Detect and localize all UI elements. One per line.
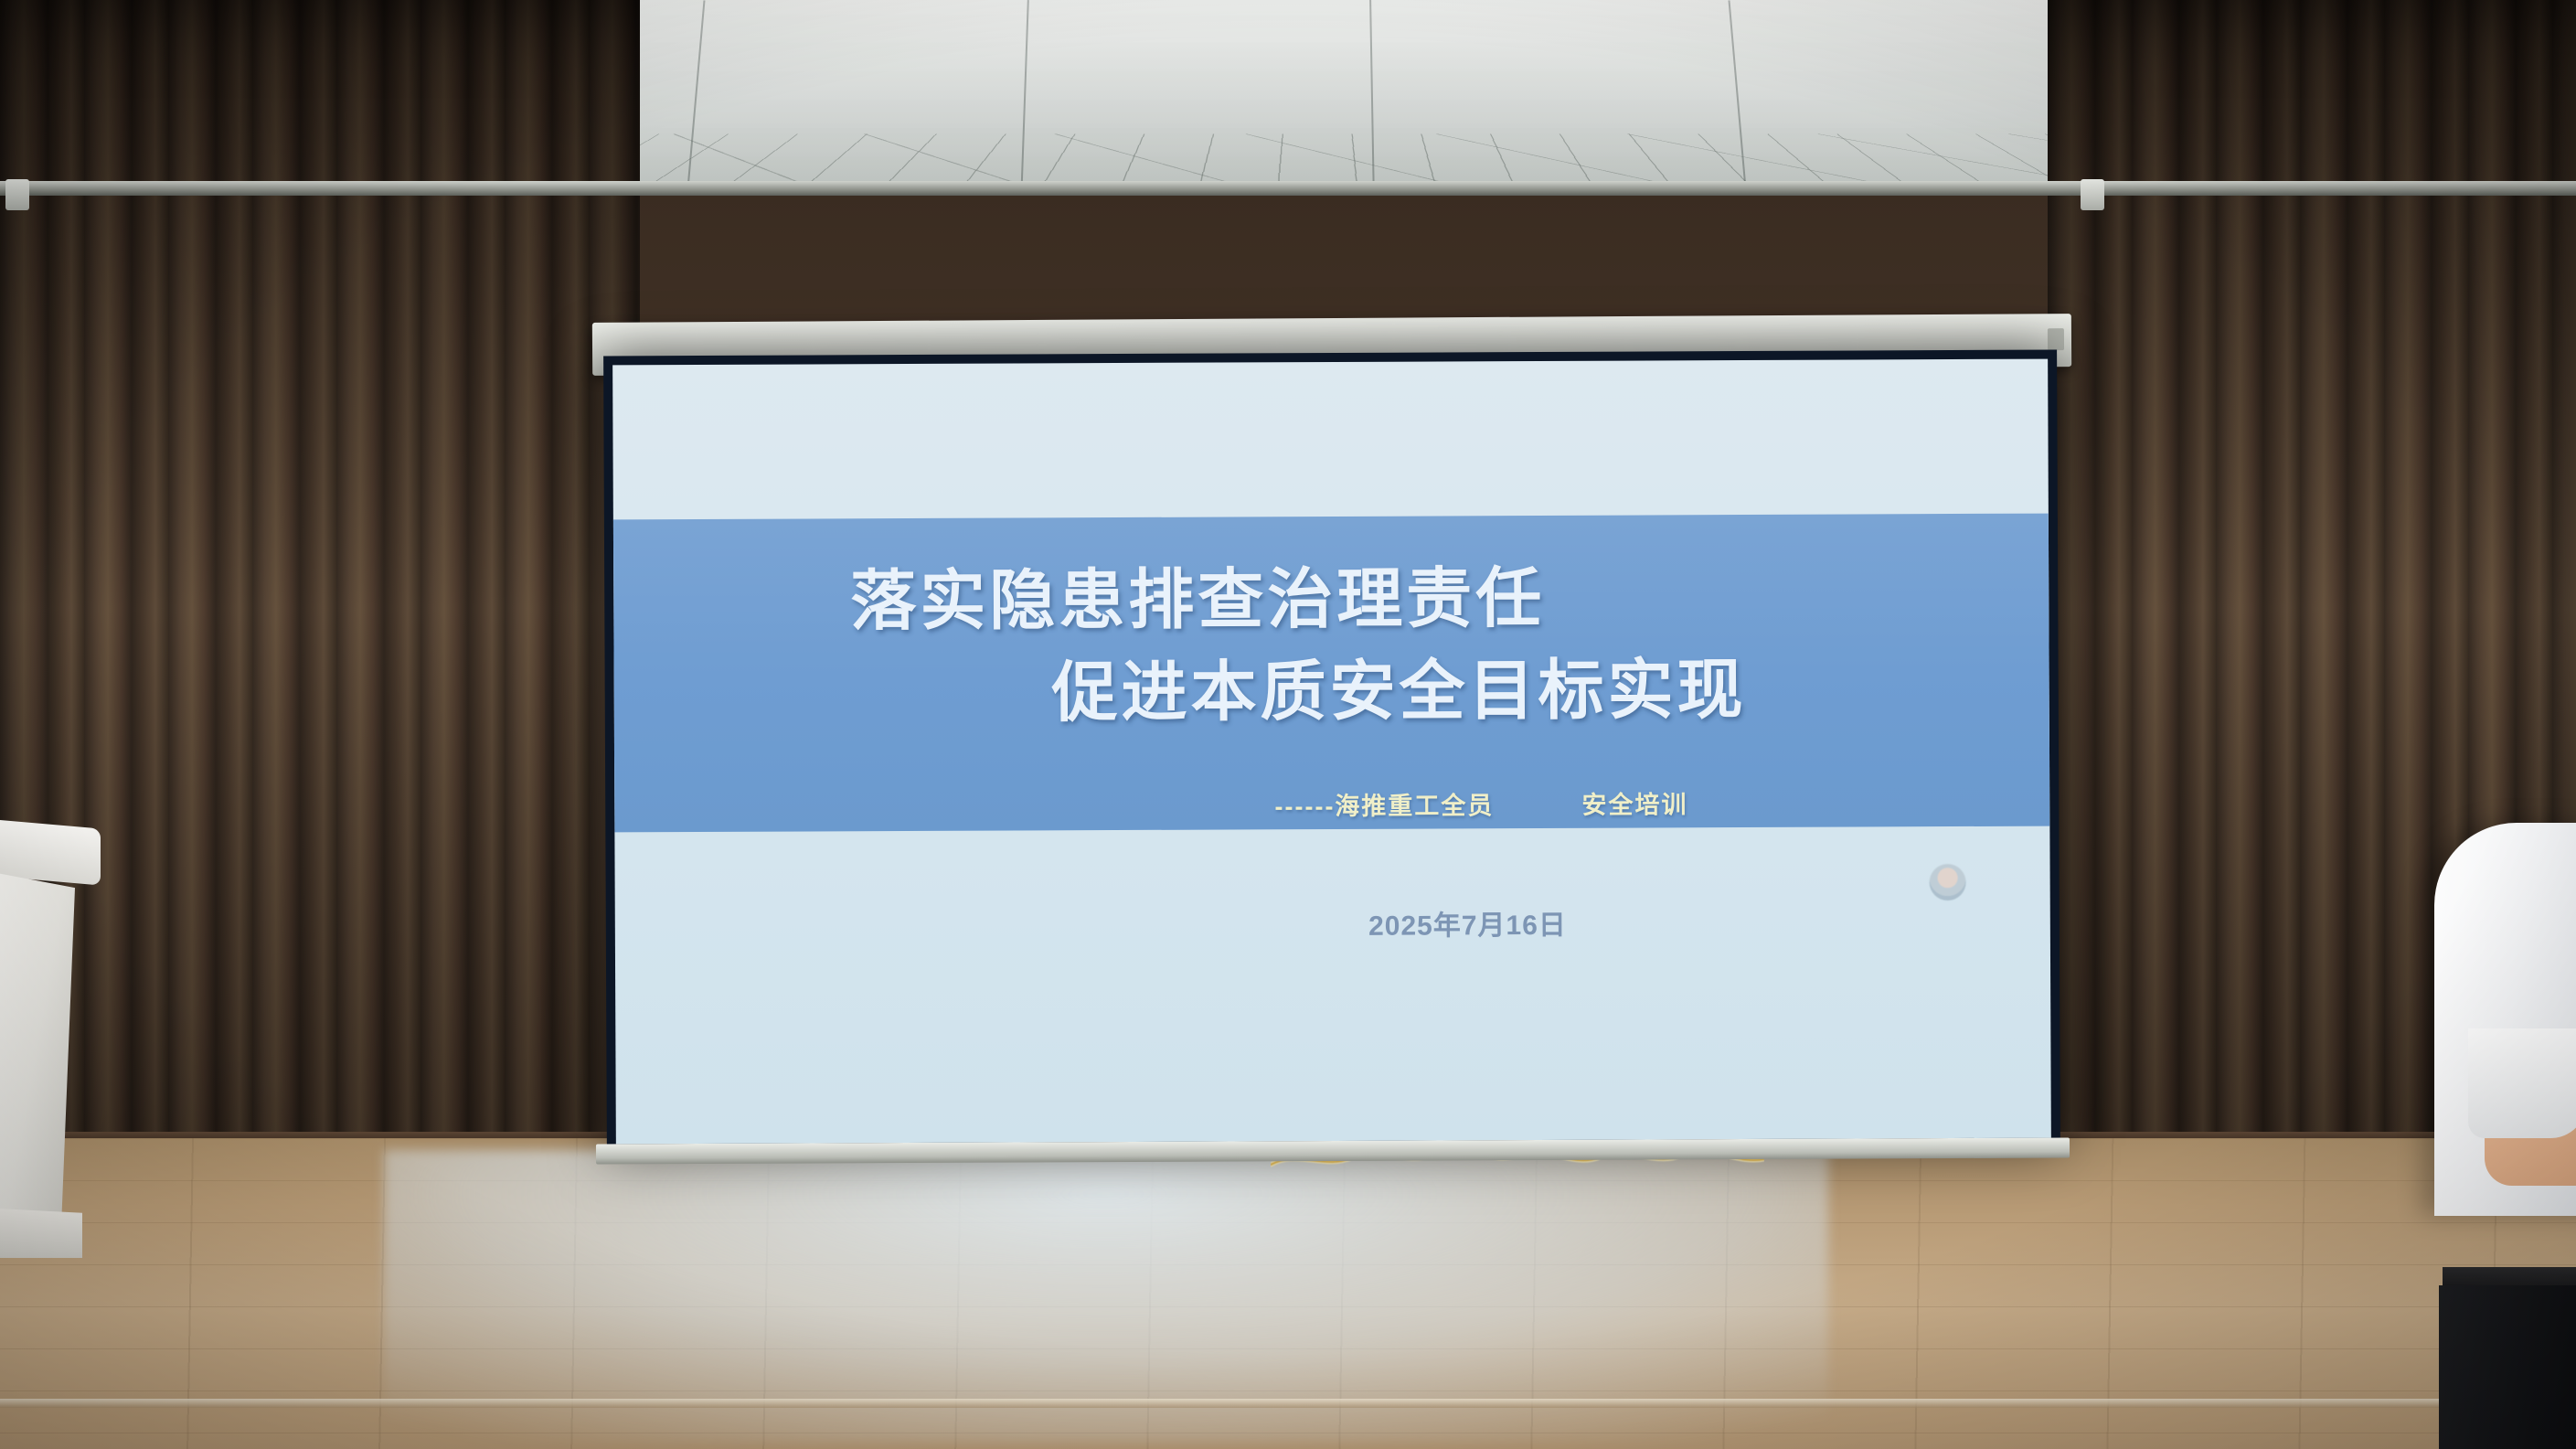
slide-title-line-2: 促进本质安全目标实现 <box>1051 635 1746 734</box>
slide-subtitle-row: ------海推重工全员 安全培训 <box>1274 785 1687 823</box>
conference-room-photo: 落实隐患排查治理责任 促进本质安全目标实现 ------海推重工全员 安全培训 … <box>0 0 2576 1449</box>
floor-edge-strip <box>0 1399 2576 1408</box>
slide-subtitle-left: ------海推重工全员 <box>1274 786 1494 823</box>
attendee-sleeve <box>2468 1028 2576 1138</box>
slide-subtitle-right: 安全培训 <box>1581 785 1687 822</box>
slide-title-line-1: 落实隐患排查治理责任 <box>850 544 1545 643</box>
attendee-trousers <box>2439 1285 2576 1449</box>
curtain-track-rail <box>0 181 2576 196</box>
speaker-lectern-base <box>0 1207 82 1258</box>
screen-casing-endcap <box>2048 328 2064 350</box>
curtain-rail-bracket <box>5 179 29 210</box>
curtain-rail-bracket <box>2081 179 2104 210</box>
speaker-lectern-top <box>0 816 101 885</box>
slide-date: 2025年7月16日 <box>1368 902 1567 943</box>
presenter-avatar-icon <box>1930 864 1966 900</box>
presentation-slide: 落实隐患排查治理责任 促进本质安全目标实现 ------海推重工全员 安全培训 … <box>612 359 2051 1145</box>
projection-screen: 落实隐患排查治理责任 促进本质安全目标实现 ------海推重工全员 安全培训 … <box>603 350 2060 1154</box>
